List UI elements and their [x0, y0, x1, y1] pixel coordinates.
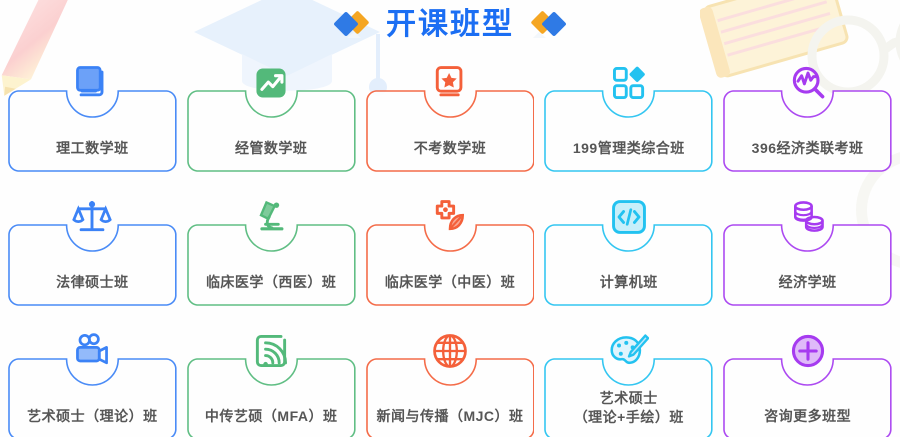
globe-icon — [427, 328, 473, 374]
class-type-card[interactable]: 经济学班 — [723, 224, 892, 306]
class-type-label: 艺术硕士（理论）班 — [27, 407, 158, 426]
herb-cross-icon — [427, 194, 473, 240]
class-type-card[interactable]: 临床医学（中医）班 — [366, 224, 535, 306]
chart-up-icon — [248, 60, 294, 106]
search-pulse-icon — [785, 60, 831, 106]
class-type-label: 法律硕士班 — [56, 273, 129, 292]
panel-header: 开课班型 — [0, 0, 900, 50]
class-type-label: 经管数学班 — [235, 139, 308, 158]
class-type-label: 咨询更多班型 — [764, 407, 851, 426]
palette-icon — [606, 328, 652, 374]
class-type-card[interactable]: 396经济类联考班 — [723, 90, 892, 172]
class-type-card[interactable]: 艺术硕士（理论）班 — [8, 358, 177, 437]
class-type-card[interactable]: 理工数学班 — [8, 90, 177, 172]
class-type-label: 艺术硕士 （理论+手绘）班 — [574, 389, 684, 427]
class-type-grid: 理工数学班 经管数学班 不考数学班 199管理类综合班 — [8, 52, 892, 432]
class-type-label: 中传艺硕（MFA）班 — [205, 407, 338, 426]
coins-icon — [785, 194, 831, 240]
shapes-icon — [606, 60, 652, 106]
class-types-panel: 开课班型 理工数学班 经管数学班 — [0, 0, 900, 437]
class-type-card[interactable]: 法律硕士班 — [8, 224, 177, 306]
class-type-card[interactable]: 不考数学班 — [366, 90, 535, 172]
class-type-card[interactable]: 咨询更多班型 — [723, 358, 892, 437]
class-type-label: 临床医学（中医）班 — [385, 273, 516, 292]
class-type-label: 临床医学（西医）班 — [206, 273, 337, 292]
class-type-card[interactable]: 经管数学班 — [187, 90, 356, 172]
class-type-label: 理工数学班 — [56, 139, 129, 158]
class-type-card[interactable]: 艺术硕士 （理论+手绘）班 — [544, 358, 713, 437]
scales-icon — [69, 194, 115, 240]
microscope-icon — [248, 194, 294, 240]
class-type-card[interactable]: 临床医学（西医）班 — [187, 224, 356, 306]
signal-icon — [248, 328, 294, 374]
camera-icon — [69, 328, 115, 374]
class-type-label: 396经济类联考班 — [752, 139, 864, 158]
diamond-pair-icon — [334, 10, 370, 40]
diamond-pair-icon — [530, 10, 566, 40]
class-type-card[interactable]: 199管理类综合班 — [544, 90, 713, 172]
class-type-label: 经济学班 — [779, 273, 837, 292]
star-book-icon — [427, 60, 473, 106]
class-type-label: 计算机班 — [600, 273, 658, 292]
class-type-label: 199管理类综合班 — [573, 139, 685, 158]
class-type-card[interactable]: 新闻与传播（MJC）班 — [366, 358, 535, 437]
class-type-label: 新闻与传播（MJC）班 — [376, 407, 523, 426]
class-type-card[interactable]: 计算机班 — [544, 224, 713, 306]
plus-circle-icon — [785, 328, 831, 374]
class-type-card[interactable]: 中传艺硕（MFA）班 — [187, 358, 356, 437]
code-icon — [606, 194, 652, 240]
class-type-label: 不考数学班 — [414, 139, 487, 158]
page-title: 开课班型 — [386, 10, 514, 40]
book-icon — [69, 60, 115, 106]
